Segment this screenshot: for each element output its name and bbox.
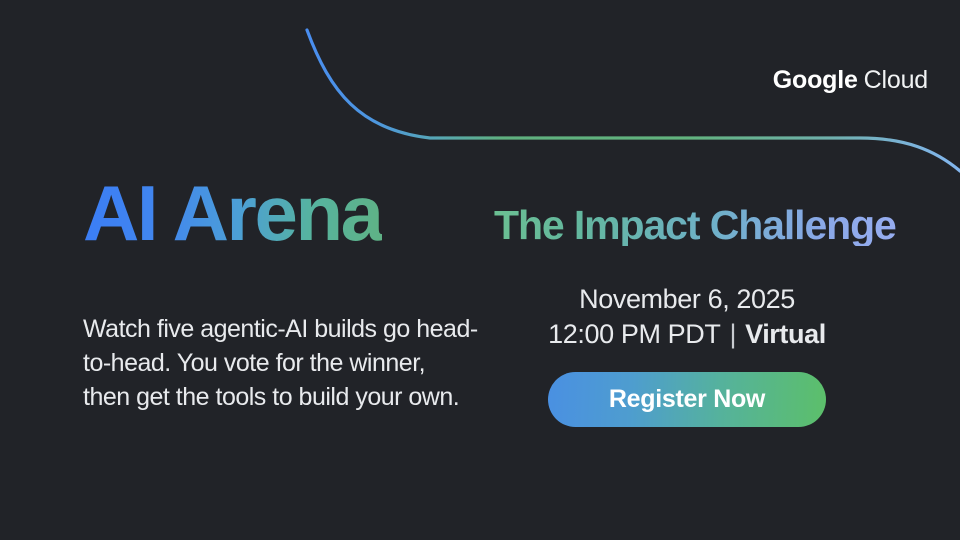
- event-date: November 6, 2025: [487, 283, 887, 316]
- meta-separator: |: [729, 318, 736, 351]
- page-title: AI Arena: [83, 176, 382, 250]
- brand-cloud: Cloud: [864, 66, 928, 94]
- headline-row: AI Arena The Impact Challenge: [83, 155, 920, 250]
- event-time: 12:00 PM PDT: [548, 319, 720, 349]
- promo-banner: GoogleCloud AI Arena The Impact Challeng…: [0, 0, 960, 540]
- register-now-button[interactable]: Register Now: [548, 372, 826, 427]
- brand-google: Google: [773, 66, 858, 94]
- google-cloud-logo: GoogleCloud: [773, 68, 928, 93]
- event-time-format: 12:00 PM PDT|Virtual: [487, 318, 887, 351]
- description-text: Watch five agentic-AI builds go head-to-…: [83, 313, 478, 414]
- event-details: November 6, 2025 12:00 PM PDT|Virtual Re…: [487, 283, 887, 427]
- page-subtitle: The Impact Challenge: [494, 205, 896, 246]
- event-format: Virtual: [745, 319, 826, 349]
- cta-container: Register Now: [487, 372, 887, 427]
